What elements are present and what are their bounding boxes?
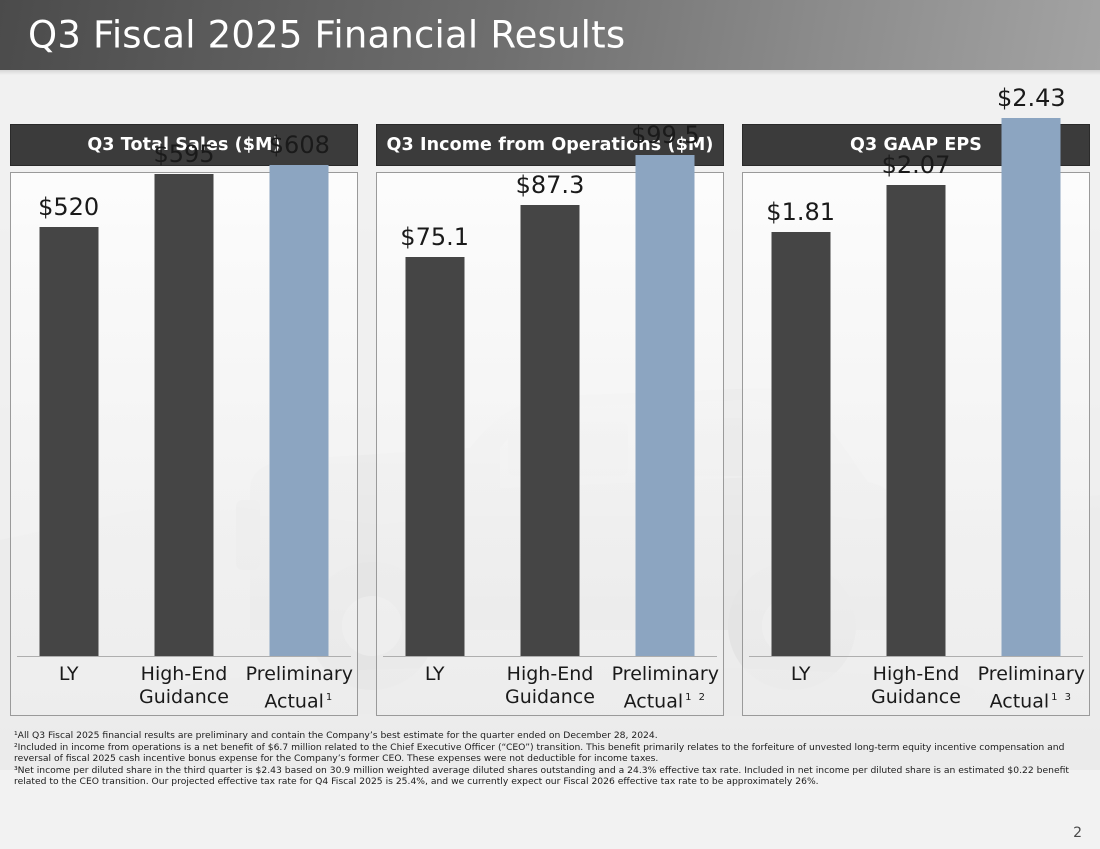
category-label-guidance: High-End Guidance [492, 657, 607, 715]
bar-actual [1002, 118, 1061, 657]
category-label-guidance-line2: Guidance [505, 686, 595, 708]
bar-guidance [154, 174, 213, 657]
category-label-ly-text: LY [791, 663, 811, 685]
category-axis-labels: LY High-End Guidance Preliminary Actual1 [11, 657, 357, 715]
bar-value-label: $75.1 [400, 223, 469, 251]
footnotes: ¹All Q3 Fiscal 2025 financial results ar… [14, 730, 1089, 788]
category-label-actual-line1: Preliminary [246, 663, 353, 685]
category-label-guidance-line1: High-End [141, 663, 228, 685]
category-label-guidance: High-End Guidance [858, 657, 973, 715]
chart-plot-area: $520 $595 $608 LY High-End [10, 172, 358, 716]
chart-panel-total-sales: Q3 Total Sales ($M) $520 $595 $608 [10, 124, 358, 716]
category-axis-labels: LY High-End Guidance Preliminary Actual1… [743, 657, 1089, 715]
bar-value-label: $2.07 [882, 151, 951, 179]
bar-value-label: $2.43 [997, 84, 1066, 112]
page-title: Q3 Fiscal 2025 Financial Results [28, 14, 625, 57]
bars-container: $1.81 $2.07 $2.43 [743, 173, 1089, 657]
bar-group-actual: $2.43 [974, 173, 1089, 657]
bar-group-guidance: $2.07 [858, 173, 973, 657]
category-label-guidance: High-End Guidance [126, 657, 241, 715]
bar-value-label: $608 [269, 131, 330, 159]
bar-ly [39, 227, 98, 657]
footnote-marker: 1 3 [1051, 692, 1073, 703]
bar-actual [270, 165, 329, 657]
category-label-ly: LY [11, 657, 126, 715]
bar-value-label: $520 [38, 193, 99, 221]
category-label-actual-line2: Actual [990, 690, 1050, 712]
category-label-guidance-line2: Guidance [871, 686, 961, 708]
bars-container: $75.1 $87.3 $99.5 [377, 173, 723, 657]
category-label-actual: Preliminary Actual1 [242, 657, 357, 715]
category-label-actual-line2: Actual [264, 690, 324, 712]
category-label-guidance-line1: High-End [873, 663, 960, 685]
footnote-1: ¹All Q3 Fiscal 2025 financial results ar… [14, 730, 1089, 742]
bar-value-label: $99.5 [631, 121, 700, 149]
category-label-ly-text: LY [425, 663, 445, 685]
category-label-ly-text: LY [59, 663, 79, 685]
chart-panel-gaap-eps: Q3 GAAP EPS $1.81 $2.07 $2.43 [742, 124, 1090, 716]
banner-shadow [0, 70, 1100, 75]
category-label-actual: Preliminary Actual1 2 [608, 657, 723, 715]
bar-value-label: $87.3 [516, 171, 585, 199]
slide: Q3 Fiscal 2025 Financial Results Q3 Tota… [0, 0, 1100, 849]
bar-ly [405, 257, 464, 657]
bar-ly [771, 232, 830, 657]
page-number: 2 [1073, 825, 1082, 841]
category-axis-labels: LY High-End Guidance Preliminary Actual1… [377, 657, 723, 715]
category-label-ly: LY [377, 657, 492, 715]
bars-container: $520 $595 $608 [11, 173, 357, 657]
footnote-marker: 1 [326, 692, 334, 703]
footnote-3: ³Net income per diluted share in the thi… [14, 765, 1089, 788]
category-label-ly: LY [743, 657, 858, 715]
bar-guidance [886, 185, 945, 657]
category-label-actual-line1: Preliminary [612, 663, 719, 685]
bar-group-ly: $75.1 [377, 173, 492, 657]
bar-group-actual: $99.5 [608, 173, 723, 657]
bar-group-ly: $520 [11, 173, 126, 657]
category-label-guidance-line2: Guidance [139, 686, 229, 708]
bar-group-ly: $1.81 [743, 173, 858, 657]
bar-value-label: $595 [153, 140, 214, 168]
slide-title-banner: Q3 Fiscal 2025 Financial Results [0, 0, 1100, 70]
category-label-guidance-line1: High-End [507, 663, 594, 685]
chart-plot-area: $1.81 $2.07 $2.43 LY High-End [742, 172, 1090, 716]
chart-plot-area: $75.1 $87.3 $99.5 LY High-End [376, 172, 724, 716]
chart-panel-income-from-operations: Q3 Income from Operations ($M) $75.1 $87… [376, 124, 724, 716]
category-label-actual-line2: Actual [624, 690, 684, 712]
bar-group-actual: $608 [242, 173, 357, 657]
footnote-2: ²Included in income from operations is a… [14, 742, 1089, 765]
bar-guidance [520, 205, 579, 657]
bar-value-label: $1.81 [766, 198, 835, 226]
bar-actual [636, 155, 695, 657]
footnote-marker: 1 2 [685, 692, 707, 703]
bar-group-guidance: $87.3 [492, 173, 607, 657]
category-label-actual-line1: Preliminary [978, 663, 1085, 685]
bar-group-guidance: $595 [126, 173, 241, 657]
category-label-actual: Preliminary Actual1 3 [974, 657, 1089, 715]
